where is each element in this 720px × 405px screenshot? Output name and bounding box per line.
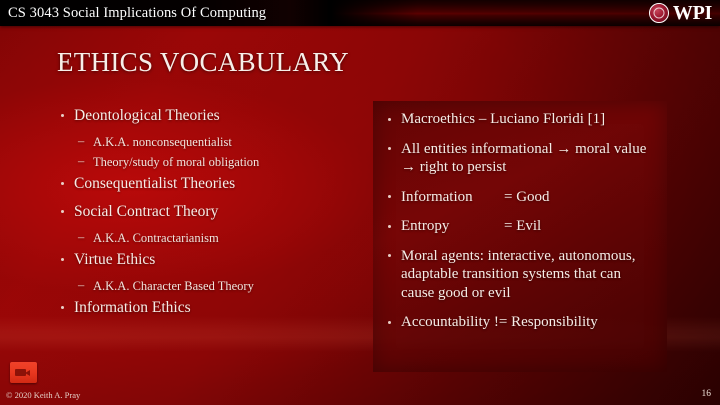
list-item: Deontological Theories <box>58 106 358 125</box>
copyright-text: © 2020 Keith A. Pray <box>6 390 80 401</box>
list-item: Consequentialist Theories <box>58 174 358 193</box>
course-title: CS 3043 Social Implications Of Computing <box>8 3 266 23</box>
list-item: A.K.A. Contractarianism <box>58 230 358 247</box>
page-title: ETHICS VOCABULARY <box>57 45 349 79</box>
slide: CS 3043 Social Implications Of Computing… <box>0 0 720 405</box>
page-number: 16 <box>702 388 712 400</box>
list-item: Accountability != Responsibility <box>383 313 657 332</box>
list-item: Virtue Ethics <box>58 250 358 269</box>
list-item-key: Information <box>401 188 504 207</box>
list-item: Information Ethics <box>58 298 358 317</box>
list-item-value: = Good <box>504 189 550 205</box>
list-item: A.K.A. nonconsequentialist <box>58 134 358 151</box>
list-item-keyvalue: Information= Good <box>383 188 657 207</box>
wpi-logo-text: WPI <box>673 3 712 23</box>
left-bullet-list: Deontological Theories A.K.A. nonconsequ… <box>58 106 358 317</box>
list-item-value: = Evil <box>504 218 541 234</box>
list-item-key: Entropy <box>401 217 504 236</box>
list-item-keyvalue: Entropy= Evil <box>383 217 657 236</box>
list-item: Moral agents: interactive, autonomous, a… <box>383 247 657 303</box>
video-camera-icon[interactable] <box>10 362 37 383</box>
list-item: A.K.A. Character Based Theory <box>58 278 358 295</box>
list-item: Theory/study of moral obligation <box>58 154 358 171</box>
wpi-seal-icon <box>649 3 669 23</box>
list-item: Macroethics – Luciano Floridi [1] <box>383 110 657 129</box>
right-panel-inner: Macroethics – Luciano Floridi [1] All en… <box>373 101 667 332</box>
wpi-logo: WPI <box>649 1 712 25</box>
right-bullet-list: Macroethics – Luciano Floridi [1] All en… <box>383 110 657 332</box>
left-content-column: Deontological Theories A.K.A. nonconsequ… <box>58 106 358 326</box>
list-item: All entities informational → moral value… <box>383 140 657 177</box>
right-content-panel: Macroethics – Luciano Floridi [1] All en… <box>373 101 667 372</box>
list-item: Social Contract Theory <box>58 202 358 221</box>
